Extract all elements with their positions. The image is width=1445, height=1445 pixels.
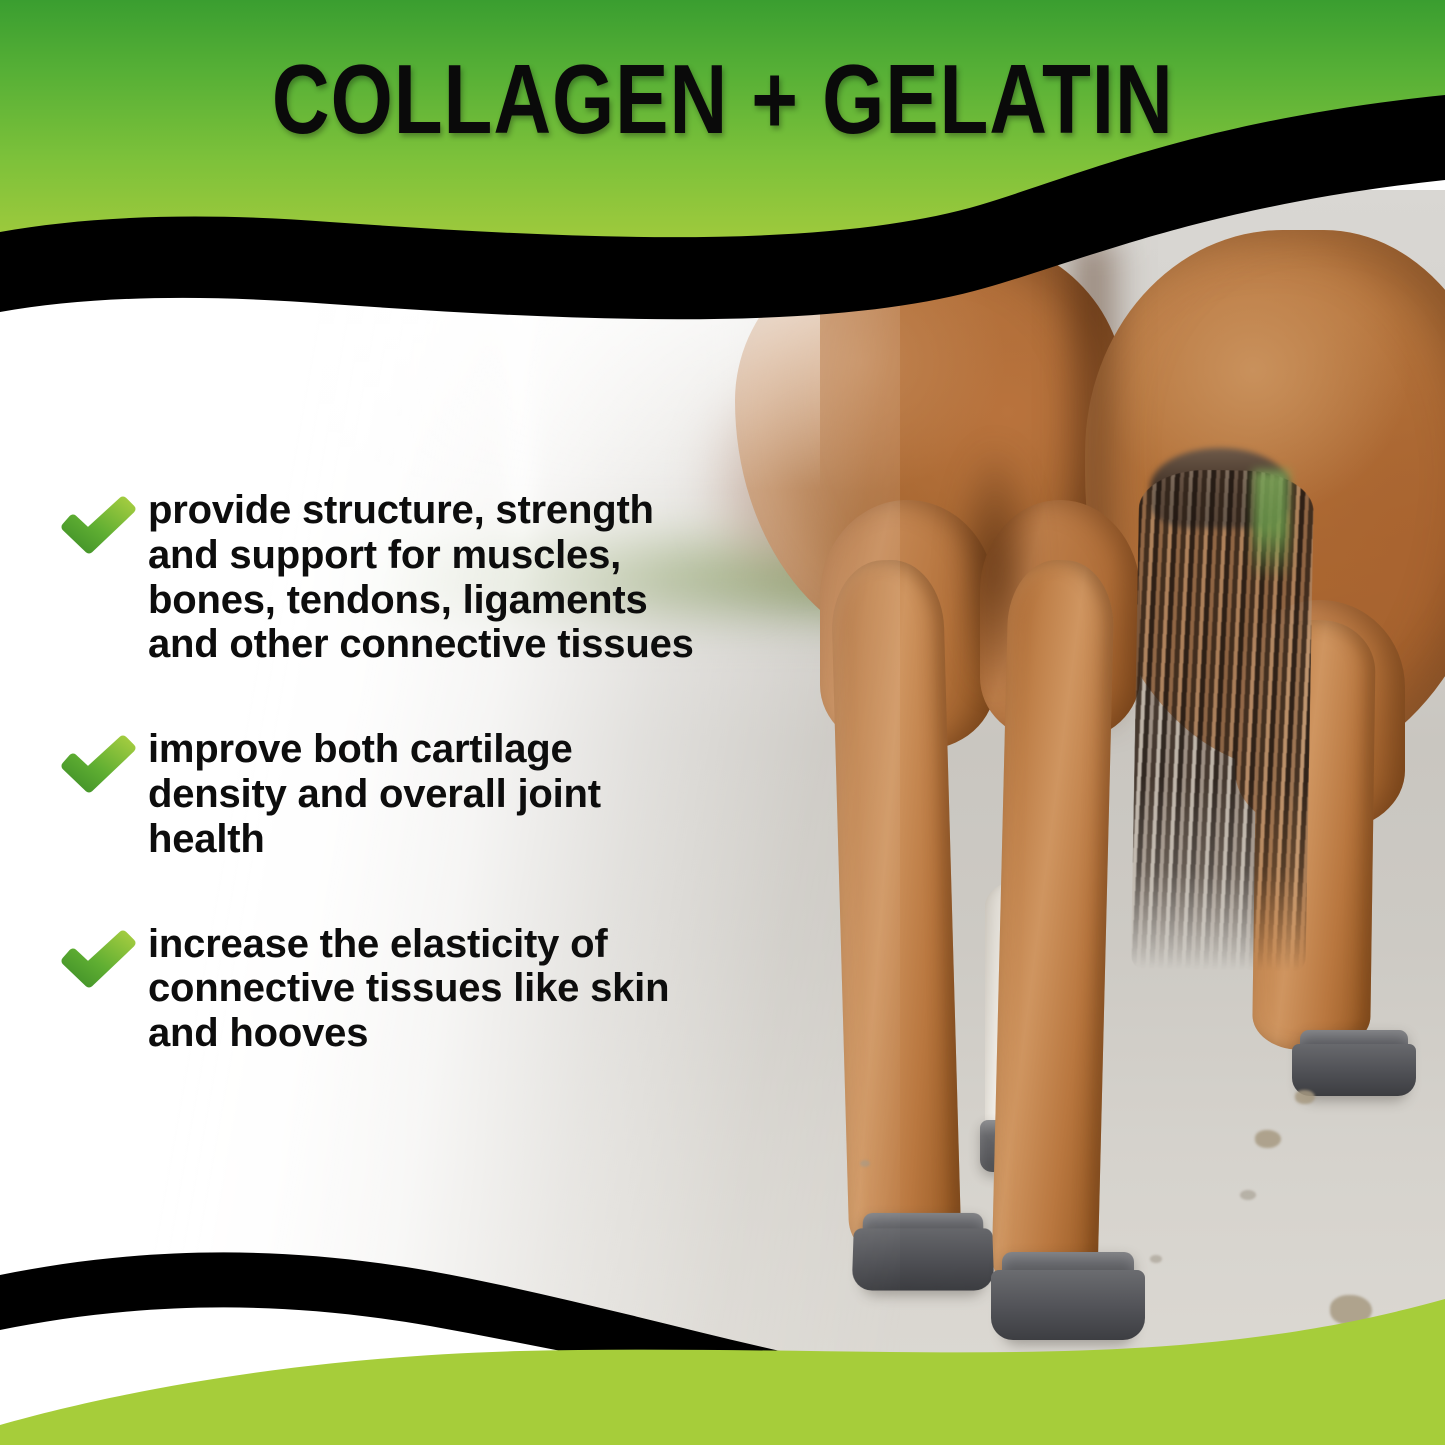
list-item-label: provide structure, strength and support … [148,488,694,667]
list-item: improve both cartilage density and overa… [60,727,780,861]
green-check-icon [60,735,138,797]
horse-leg-2 [991,559,1115,1301]
list-item: increase the elasticity of connective ti… [60,922,780,1056]
horse-hoof-3 [1300,1030,1408,1096]
green-check-icon [60,496,138,558]
list-item-label: increase the elasticity of connective ti… [148,922,669,1056]
list-item-label: improve both cartilage density and overa… [148,727,601,861]
ground-speck [1240,1190,1256,1200]
ground-clod [1295,1090,1315,1104]
horse-tail-green-tint [1253,470,1289,580]
benefits-list: provide structure, strength and support … [60,488,780,1056]
ground-speck [1150,1255,1162,1263]
list-item: provide structure, strength and support … [60,488,780,667]
horse-hoof-2 [1002,1252,1134,1340]
ground-clod [1255,1130,1281,1148]
collagen-gelatin-infographic: COLLAGEN + GELATIN provide structure, st… [0,0,1445,1445]
green-check-icon [60,930,138,992]
